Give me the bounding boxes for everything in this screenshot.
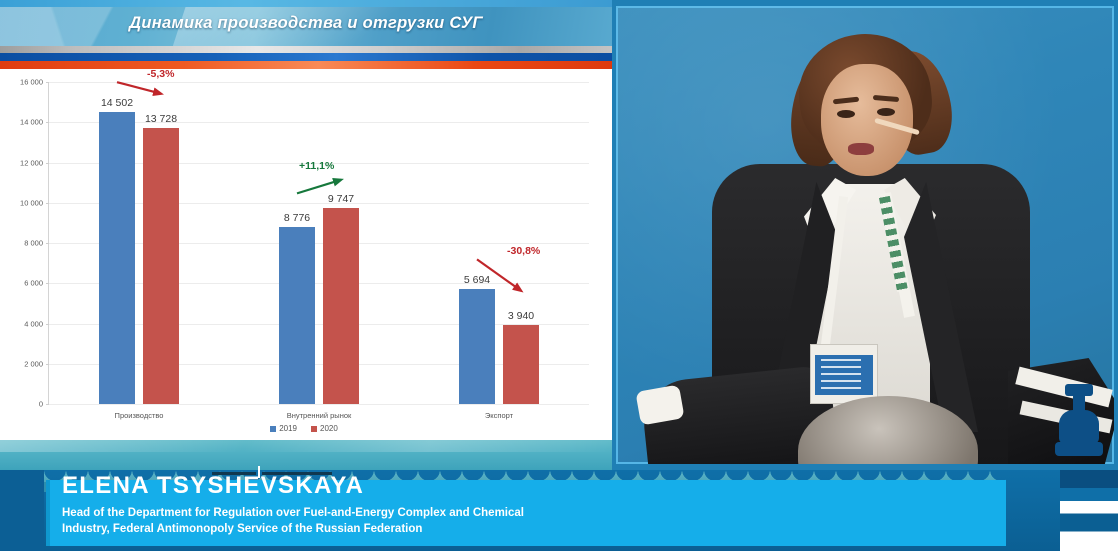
bar-2019 xyxy=(459,289,495,404)
speaker-face xyxy=(821,64,913,176)
legend-label: 2020 xyxy=(320,424,338,433)
chess-body xyxy=(1059,410,1099,444)
lower-left-edge xyxy=(0,470,44,551)
stripe-silver xyxy=(0,46,612,53)
y-axis-tick-label: 0 xyxy=(39,400,43,409)
bar-value-label: 5 694 xyxy=(464,274,490,286)
eye-right xyxy=(877,108,895,116)
y-axis-tick-label: 8 000 xyxy=(24,239,43,248)
y-axis-tick-label: 14 000 xyxy=(20,118,43,127)
speaker-video-panel xyxy=(612,0,1118,470)
broadcast-screen: Динамика производства и отгрузки СУГ 02 … xyxy=(0,0,1118,551)
badge-inner xyxy=(815,355,873,395)
bar-value-label: 9 747 xyxy=(328,193,354,205)
speaker-role: Head of the Department for Regulation ov… xyxy=(62,505,762,537)
category-label: Производство xyxy=(115,411,164,420)
category-label: Внутренний рынок xyxy=(287,411,352,420)
speaker-role-line-2: Industry, Federal Antimonopoly Service o… xyxy=(62,521,762,537)
speaker-mouth xyxy=(848,143,874,155)
legend-swatch xyxy=(311,426,317,432)
trend-annotation-label: +11,1% xyxy=(299,160,334,172)
brow-left xyxy=(833,97,859,105)
name-card-accent xyxy=(46,480,50,546)
bar-value-label: 13 728 xyxy=(145,113,177,125)
bar-2020 xyxy=(143,128,179,404)
y-axis-tick-label: 10 000 xyxy=(20,198,43,207)
chart-legend: 20192020 xyxy=(4,424,604,433)
category-label: Экспорт xyxy=(485,411,513,420)
bar-value-label: 3 940 xyxy=(508,310,534,322)
legend-label: 2019 xyxy=(279,424,297,433)
legend-item: 2019 xyxy=(270,424,297,433)
bar-group: 14 50213 728Производство xyxy=(49,82,229,404)
slide-water-band xyxy=(0,440,612,470)
bar-value-label: 8 776 xyxy=(284,212,310,224)
chess-base xyxy=(1055,442,1103,456)
bar-2019 xyxy=(99,112,135,404)
trend-annotation-label: -30,8% xyxy=(507,245,540,257)
stripe-blue xyxy=(0,53,612,61)
legend-item: 2020 xyxy=(311,424,338,433)
eye-left xyxy=(837,110,855,118)
y-axis-tick xyxy=(46,404,49,405)
bar-value-label: 14 502 xyxy=(101,97,133,109)
bar-2019 xyxy=(279,227,315,404)
bar-group: 5 6943 940Экспорт xyxy=(409,82,589,404)
y-axis-tick-label: 2 000 xyxy=(24,359,43,368)
y-axis-tick-label: 4 000 xyxy=(24,319,43,328)
brow-right xyxy=(873,95,899,102)
chess-neck xyxy=(1073,395,1085,411)
conference-badge xyxy=(810,344,878,404)
speaker-name: ELENA TSYSHEVSKAYA xyxy=(62,472,364,500)
corner-stripe-graphic xyxy=(1060,470,1118,551)
stripe-red xyxy=(0,61,612,69)
bar-group: 8 7769 747Внутренний рынок xyxy=(229,82,409,404)
bar-2020 xyxy=(503,325,539,404)
plot-area: 02 0004 0006 0008 00010 00012 00014 0001… xyxy=(48,82,589,405)
y-axis-tick-label: 16 000 xyxy=(20,78,43,87)
slide-title: Динамика производства и отгрузки СУГ xyxy=(0,14,612,33)
chess-piece-icon xyxy=(1055,384,1103,466)
y-axis-tick-label: 6 000 xyxy=(24,279,43,288)
grid-line xyxy=(49,404,589,405)
presentation-slide: Динамика производства и отгрузки СУГ 02 … xyxy=(0,0,612,470)
bar-2020 xyxy=(323,208,359,404)
video-frame xyxy=(616,6,1114,464)
trend-annotation-label: -5,3% xyxy=(147,68,174,80)
speaker-role-line-1: Head of the Department for Regulation ov… xyxy=(62,505,762,521)
badge-text-lines xyxy=(821,359,861,389)
legend-swatch xyxy=(270,426,276,432)
bar-chart: 02 0004 0006 0008 00010 00012 00014 0001… xyxy=(4,72,604,440)
y-axis-tick-label: 12 000 xyxy=(20,158,43,167)
